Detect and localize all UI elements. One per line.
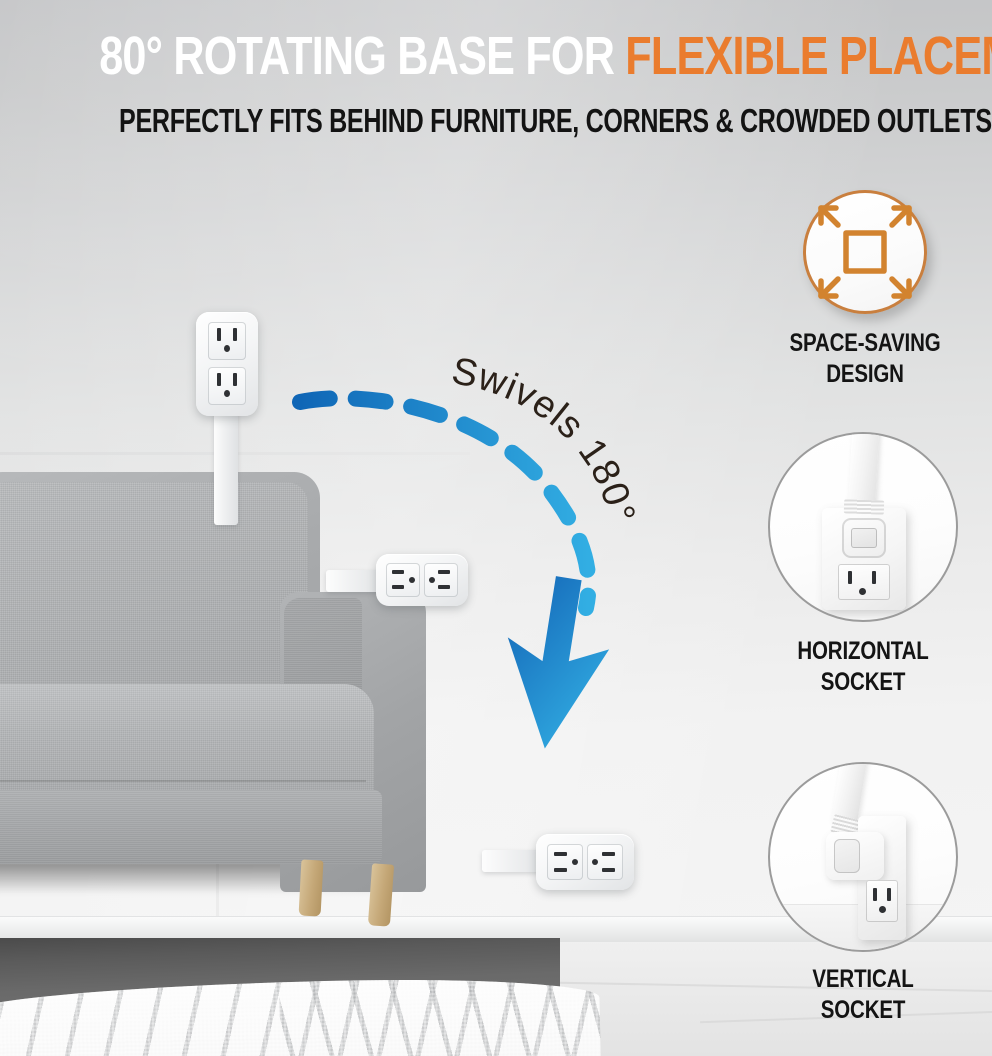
horizontal-socket-photo: [768, 432, 958, 622]
callout-label-line1: HORIZONTAL: [769, 636, 958, 667]
socket-swivel-head: [842, 518, 886, 558]
page-subheadline: PERFECTLY FITS BEHIND FURNITURE, CORNERS…: [119, 102, 873, 140]
outlet-near-floor: [536, 834, 634, 890]
infographic-canvas: Swivels 180° 80° ROTATING BASE FOR FLEXI…: [0, 0, 992, 1056]
sofa-base-fabric: [0, 790, 382, 864]
vertical-socket-photo: [768, 762, 958, 952]
socket-swivel-face: [851, 528, 877, 548]
expand-arrows-square-icon: [806, 193, 924, 311]
socket-left: [547, 844, 583, 880]
socket-right: [587, 844, 623, 880]
sofa-leg-front: [299, 859, 324, 916]
callout-space-saving[interactable]: SPACE-SAVING DESIGN: [750, 190, 980, 390]
socket-duplex-face: [838, 564, 890, 600]
callout-label-horizontal-socket: HORIZONTAL SOCKET: [769, 636, 958, 698]
sofa-seat-seam: [0, 780, 366, 782]
horizontal-socket-scene: [770, 434, 956, 620]
space-saving-icon-badge: [803, 190, 927, 314]
socket-duplex-face: [866, 880, 898, 922]
callout-vertical-socket[interactable]: VERTICAL SOCKET: [748, 762, 978, 1026]
callout-label-line2: SOCKET: [769, 667, 958, 698]
wall-outlet-upright: [196, 312, 258, 416]
headline-orange-part: FLEXIBLE PLACEMENT: [625, 26, 992, 86]
socket-swivel-face: [834, 839, 860, 873]
headline-white-part: 80° ROTATING BASE FOR: [99, 26, 625, 86]
sofa-base: [0, 790, 382, 864]
socket-lower: [208, 367, 246, 405]
swivel-annotation-group: Swivels 180°: [280, 370, 680, 750]
callout-label-space-saving: SPACE-SAVING DESIGN: [771, 328, 960, 390]
sofa-leg-rear: [368, 863, 394, 926]
page-headline: 80° ROTATING BASE FOR FLEXIBLE PLACEMENT: [99, 28, 893, 84]
socket-swivel-head: [826, 832, 884, 880]
socket-upper: [208, 322, 246, 360]
callout-label-line1: VERTICAL SOCKET: [769, 964, 958, 1026]
callout-label-line2: DESIGN: [771, 359, 960, 390]
shag-area-rug: [0, 975, 601, 1056]
callout-horizontal-socket[interactable]: HORIZONTAL SOCKET: [748, 432, 978, 698]
socket-hinge-ridges: [844, 499, 884, 514]
rug-pile-texture: [0, 975, 601, 1056]
callout-label-vertical-socket: VERTICAL SOCKET: [769, 964, 958, 1026]
power-cord-top: [214, 410, 238, 525]
swivel-arrow: [492, 570, 620, 756]
sofa-backrest-fabric: [0, 482, 308, 718]
callout-label-line1: SPACE-SAVING: [771, 328, 960, 359]
